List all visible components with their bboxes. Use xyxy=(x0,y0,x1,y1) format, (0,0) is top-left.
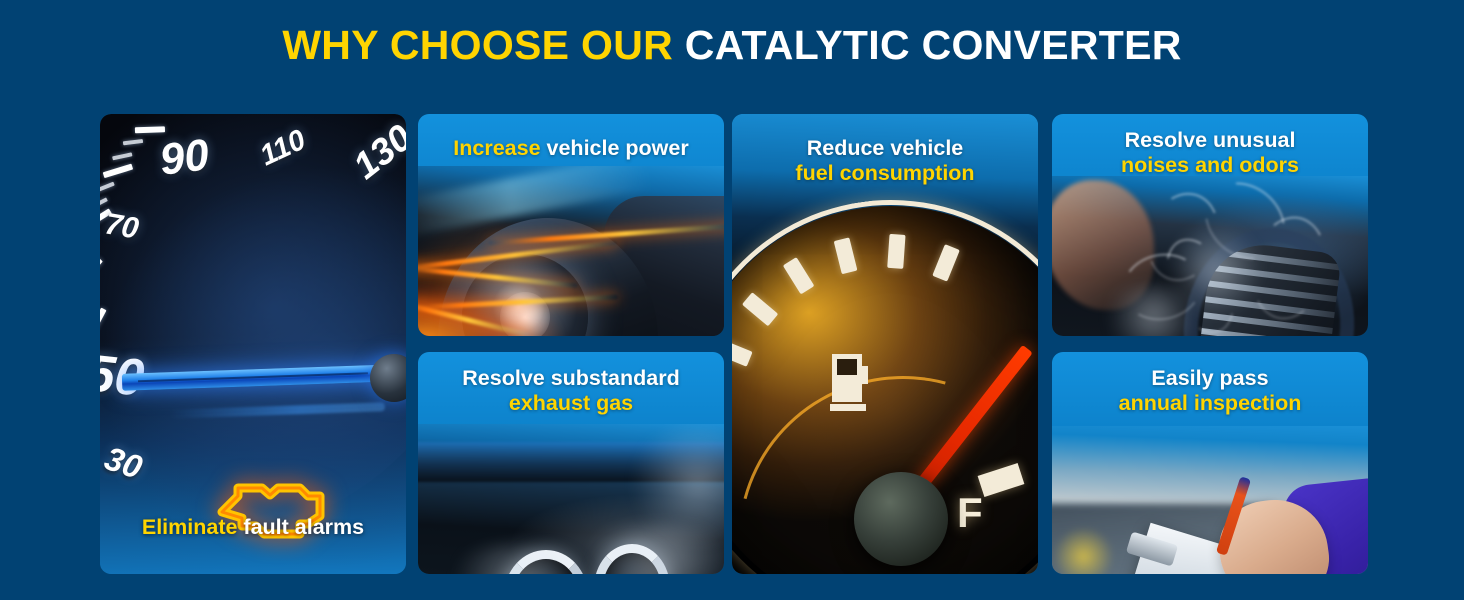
caption-line-2: fuel consumption xyxy=(742,161,1028,186)
caption-line-2: noises and odors xyxy=(1062,153,1358,178)
caption-line-2: annual inspection xyxy=(1062,391,1358,416)
caption-highlight: Eliminate xyxy=(142,515,238,539)
fuel-gauge-full-label: F xyxy=(957,489,983,537)
fuel-pump-icon xyxy=(832,354,868,414)
caption-line-1: Resolve substandard xyxy=(428,366,714,391)
card-caption-eliminate-fault-alarms: Eliminate fault alarms xyxy=(100,515,406,540)
feature-card-reduce-vehicle-fuel-consumption: F Reduce vehicle fuel consumption xyxy=(732,114,1038,574)
feature-card-increase-vehicle-power: Increase vehicle power xyxy=(418,114,724,336)
card-caption-resolve-unusual-noises-and-odors: Resolve unusual noises and odors xyxy=(1052,114,1368,178)
feature-card-grid: 130 110 90 70 50 30 Eliminate fault alar… xyxy=(100,114,1368,574)
caption-plain: vehicle power xyxy=(541,136,689,160)
card-caption-resolve-substandard-exhaust-gas: Resolve substandard exhaust gas xyxy=(418,352,724,416)
caption-line-1: Easily pass xyxy=(1062,366,1358,391)
feature-card-resolve-substandard-exhaust-gas: Resolve substandard exhaust gas xyxy=(418,352,724,574)
feature-card-easily-pass-annual-inspection: Easily pass annual inspection xyxy=(1052,352,1368,574)
speedometer-number-90: 90 xyxy=(157,130,212,186)
page-title: WHY CHOOSE OUR CATALYTIC CONVERTER xyxy=(0,22,1464,69)
caption-line-1: Resolve unusual xyxy=(1062,128,1358,153)
page-title-rest: CATALYTIC CONVERTER xyxy=(685,22,1182,68)
caption-highlight: Increase xyxy=(453,136,540,160)
caption-line-1: Reduce vehicle xyxy=(742,136,1028,161)
speedometer-artwork: 130 110 90 70 50 30 xyxy=(100,114,406,574)
card-caption-reduce-vehicle-fuel-consumption: Reduce vehicle fuel consumption xyxy=(732,114,1038,186)
feature-card-eliminate-fault-alarms: 130 110 90 70 50 30 Eliminate fault alar… xyxy=(100,114,406,574)
page-title-highlight: WHY CHOOSE OUR xyxy=(282,22,673,68)
feature-card-resolve-unusual-noises-and-odors: Resolve unusual noises and odors xyxy=(1052,114,1368,336)
caption-line-2: exhaust gas xyxy=(428,391,714,416)
card-caption-increase-vehicle-power: Increase vehicle power xyxy=(418,114,724,161)
caption-plain: fault alarms xyxy=(237,515,364,539)
speedometer-number-70: 70 xyxy=(102,207,141,246)
card-caption-easily-pass-annual-inspection: Easily pass annual inspection xyxy=(1052,352,1368,416)
